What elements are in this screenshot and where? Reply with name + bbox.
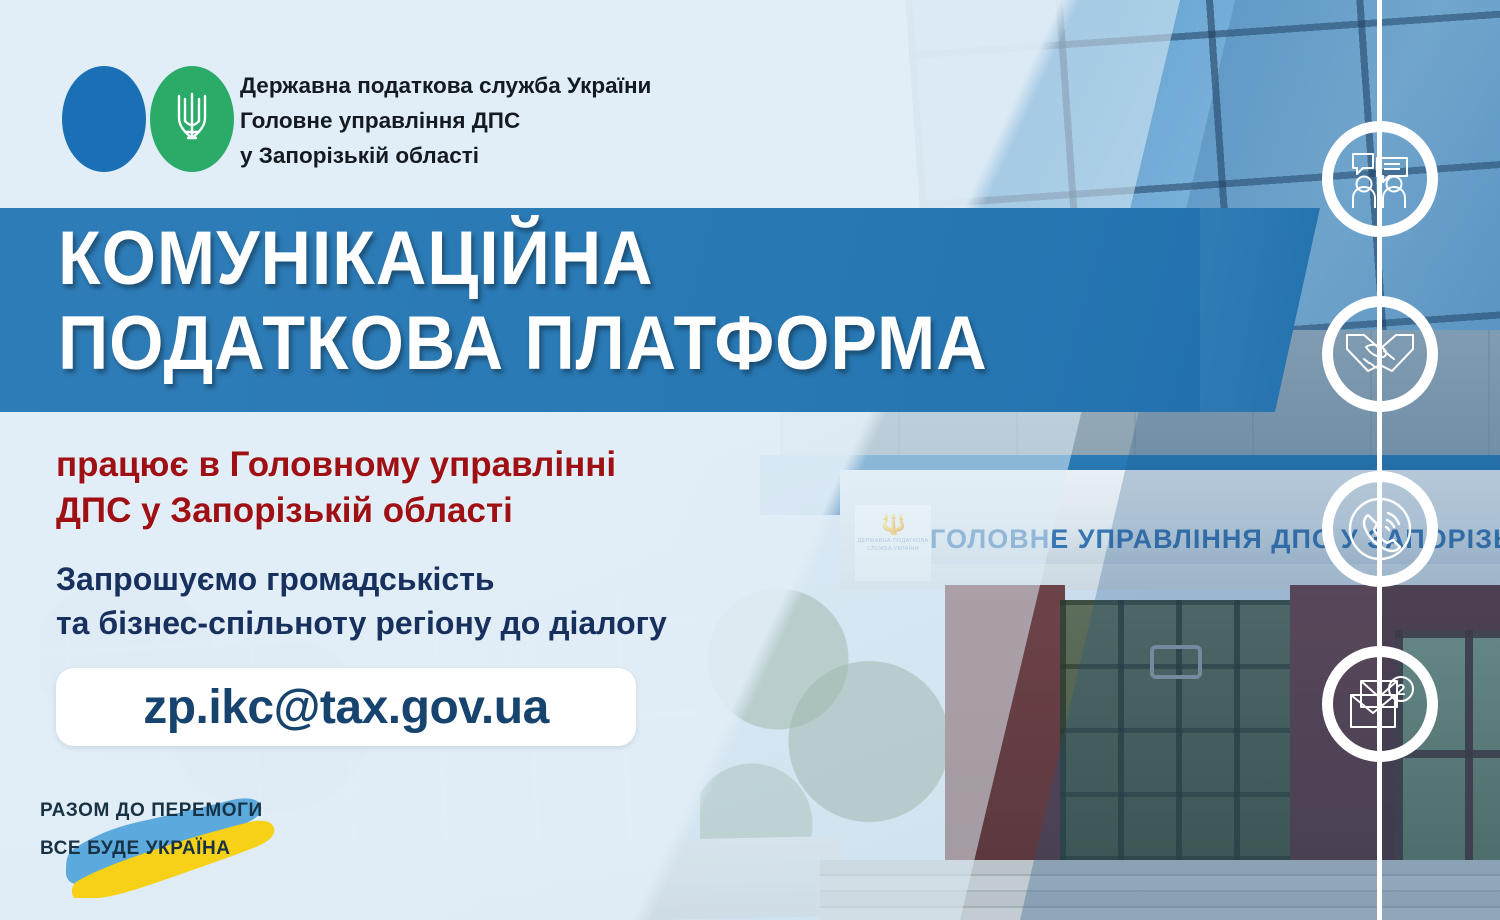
- email-address-pill[interactable]: zp.ikc@tax.gov.ua: [56, 668, 636, 746]
- subheading-navy: Запрошуємо громадськість та бізнес-спіль…: [56, 557, 896, 645]
- handshake-icon[interactable]: [1322, 296, 1438, 412]
- dialogue-people-icon[interactable]: [1322, 121, 1438, 237]
- mail-badge-count: 2: [1397, 682, 1406, 699]
- mail-envelope-icon[interactable]: 2: [1322, 646, 1438, 762]
- organization-name: Державна податкова служба України Головн…: [240, 68, 651, 173]
- phone-call-icon[interactable]: [1322, 471, 1438, 587]
- dps-logo: [62, 66, 234, 172]
- logo-blue-circle: [62, 66, 146, 172]
- page-title: КОМУНІКАЦІЙНА ПОДАТКОВА ПЛАТФОРМА: [58, 216, 1208, 386]
- ukrainian-trident-icon: [170, 88, 214, 151]
- subheading-red: працює в Головному управлінні ДПС у Запо…: [56, 442, 876, 534]
- victory-slogan: РАЗОМ ДО ПЕРЕМОГИ ВСЕ БУДЕ УКРАЇНА: [40, 792, 370, 868]
- logo-green-circle: [150, 66, 234, 172]
- poster-canvas: ГОЛОВНЕ УПРАВЛІННЯ ДПС У ЗАПОРІЗЬКІЙ ОБЛ…: [0, 0, 1500, 920]
- email-address-text: zp.ikc@tax.gov.ua: [143, 680, 549, 735]
